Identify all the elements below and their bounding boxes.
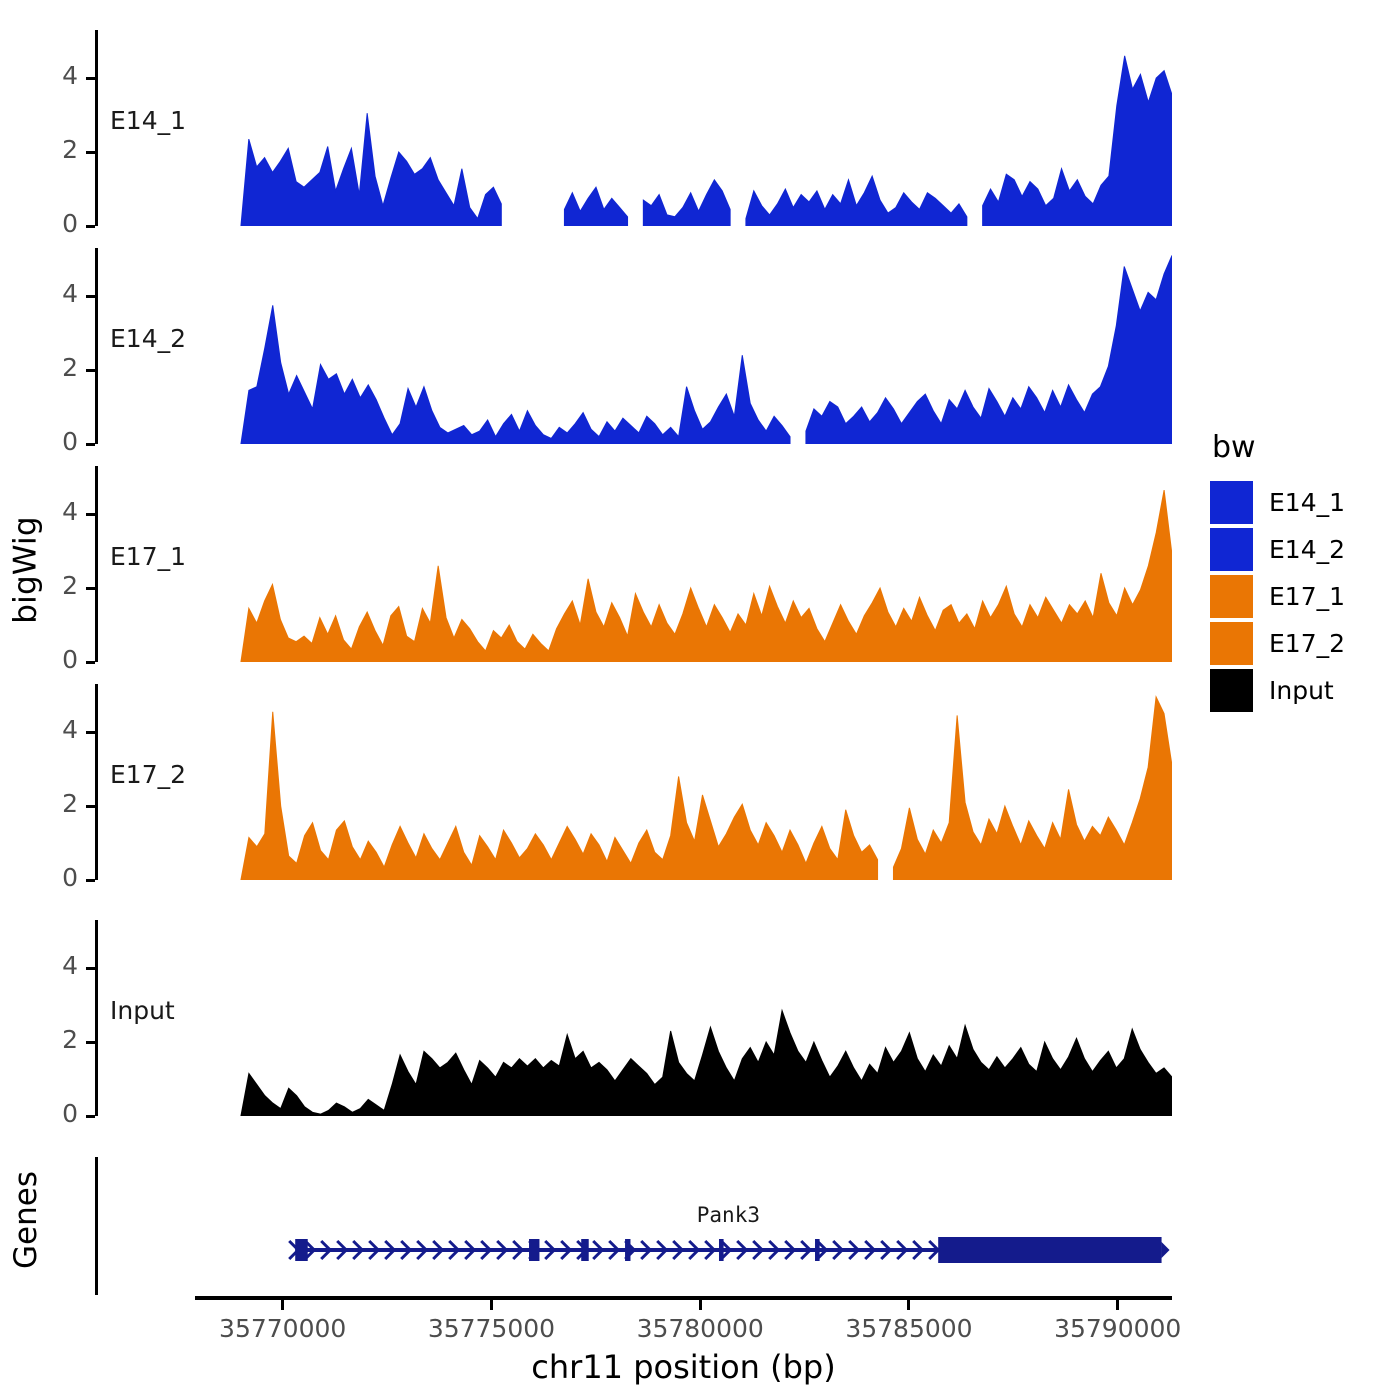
- legend-item-label: E14_1: [1269, 488, 1345, 517]
- legend-item-e14_1[interactable]: E14_1: [1210, 479, 1396, 526]
- x-tick-mark: [1116, 1300, 1119, 1310]
- x-tick-label: 35770000: [219, 1314, 346, 1343]
- y-tick-mark: [86, 513, 95, 516]
- x-tick-mark: [281, 1300, 284, 1310]
- legend-color-swatch: [1210, 669, 1253, 712]
- y-tick-label: 2: [48, 571, 78, 600]
- coverage-area-segment: [241, 305, 790, 444]
- x-tick-mark: [699, 1300, 702, 1310]
- track-plot-area[interactable]: [98, 30, 1172, 226]
- x-axis-line: [195, 1296, 1172, 1300]
- track-panel-input: 024Input: [0, 920, 1180, 1116]
- y-tick-label: 2: [48, 353, 78, 382]
- track-plot-area[interactable]: [98, 920, 1172, 1116]
- y-tick-mark: [86, 225, 95, 228]
- legend-item-e17_2[interactable]: E17_2: [1210, 620, 1396, 667]
- coverage-area-segment: [241, 490, 1172, 662]
- coverage-area-svg: [98, 920, 1172, 1116]
- x-tick-mark: [907, 1300, 910, 1310]
- legend: bw E14_1E14_2E17_1E17_2Input: [1210, 430, 1396, 714]
- gene-exon[interactable]: [815, 1239, 820, 1261]
- y-tick-mark: [86, 369, 95, 372]
- coverage-area-segment: [746, 176, 967, 226]
- y-tick-label: 0: [48, 863, 78, 892]
- genes-panel: Pank3: [0, 1145, 1180, 1295]
- legend-items: E14_1E14_2E17_1E17_2Input: [1210, 479, 1396, 714]
- legend-item-e17_1[interactable]: E17_1: [1210, 573, 1396, 620]
- legend-item-label: E17_1: [1269, 582, 1345, 611]
- x-tick-mark: [490, 1300, 493, 1310]
- coverage-area-svg: [98, 684, 1172, 880]
- y-tick-label: 0: [48, 209, 78, 238]
- y-tick-label: 2: [48, 1025, 78, 1054]
- track-plot-area[interactable]: [98, 684, 1172, 880]
- y-tick-mark: [86, 661, 95, 664]
- y-tick-mark: [86, 77, 95, 80]
- coverage-area-segment: [241, 712, 878, 880]
- y-tick-label: 4: [48, 951, 78, 980]
- gene-exon[interactable]: [719, 1239, 724, 1261]
- y-tick-label: 2: [48, 135, 78, 164]
- coverage-area-segment: [806, 255, 1172, 444]
- track-panel-e17_2: 024E17_2: [0, 684, 1180, 880]
- track-panel-e17_1: 024E17_1: [0, 466, 1180, 662]
- y-tick-mark: [86, 1115, 95, 1118]
- coverage-area-segment: [564, 187, 627, 226]
- coverage-area-segment: [643, 180, 730, 226]
- gene-model-svg: [98, 1145, 1172, 1295]
- x-axis-title: chr11 position (bp): [195, 1348, 1172, 1386]
- legend-color-swatch: [1210, 575, 1253, 618]
- y-tick-mark: [86, 731, 95, 734]
- gene-model[interactable]: [98, 1145, 1172, 1295]
- legend-color-swatch: [1210, 528, 1253, 571]
- coverage-area-segment: [983, 56, 1172, 226]
- coverage-area-segment: [241, 113, 501, 226]
- coverage-area-segment: [893, 697, 1172, 880]
- gene-exon[interactable]: [625, 1239, 630, 1261]
- coverage-area-segment: [241, 1011, 1172, 1116]
- track-panel-e14_2: 024E14_2: [0, 248, 1180, 444]
- track-panel-e14_1: 024E14_1: [0, 30, 1180, 226]
- y-tick-mark: [86, 151, 95, 154]
- y-tick-label: 4: [48, 61, 78, 90]
- gene-exon[interactable]: [295, 1239, 308, 1261]
- y-tick-mark: [86, 1041, 95, 1044]
- y-tick-mark: [86, 805, 95, 808]
- gene-exon[interactable]: [529, 1239, 539, 1261]
- plot-root: bigWig Genes 024E14_1024E14_2024E17_1024…: [0, 0, 1400, 1400]
- y-tick-label: 0: [48, 427, 78, 456]
- coverage-area-svg: [98, 466, 1172, 662]
- legend-item-label: E14_2: [1269, 535, 1345, 564]
- legend-color-swatch: [1210, 481, 1253, 524]
- gene-exon[interactable]: [938, 1237, 1161, 1263]
- gene-direction-arrowhead-icon: [1162, 1242, 1170, 1258]
- gene-exon[interactable]: [581, 1239, 589, 1261]
- y-tick-mark: [86, 967, 95, 970]
- legend-title: bw: [1212, 430, 1396, 465]
- legend-item-label: Input: [1269, 676, 1334, 705]
- y-tick-label: 2: [48, 789, 78, 818]
- y-tick-mark: [86, 443, 95, 446]
- legend-item-input[interactable]: Input: [1210, 667, 1396, 714]
- x-tick-label: 35780000: [637, 1314, 764, 1343]
- track-plot-area[interactable]: [98, 466, 1172, 662]
- y-tick-label: 4: [48, 497, 78, 526]
- y-tick-label: 0: [48, 645, 78, 674]
- legend-item-e14_2[interactable]: E14_2: [1210, 526, 1396, 573]
- legend-item-label: E17_2: [1269, 629, 1345, 658]
- x-tick-label: 35785000: [845, 1314, 972, 1343]
- x-tick-label: 35775000: [428, 1314, 555, 1343]
- y-tick-label: 4: [48, 715, 78, 744]
- coverage-area-svg: [98, 248, 1172, 444]
- y-tick-mark: [86, 879, 95, 882]
- coverage-area-svg: [98, 30, 1172, 226]
- legend-color-swatch: [1210, 622, 1253, 665]
- x-tick-label: 35790000: [1054, 1314, 1181, 1343]
- y-tick-mark: [86, 587, 95, 590]
- y-tick-label: 0: [48, 1099, 78, 1128]
- y-tick-label: 4: [48, 279, 78, 308]
- y-tick-mark: [86, 295, 95, 298]
- track-plot-area[interactable]: [98, 248, 1172, 444]
